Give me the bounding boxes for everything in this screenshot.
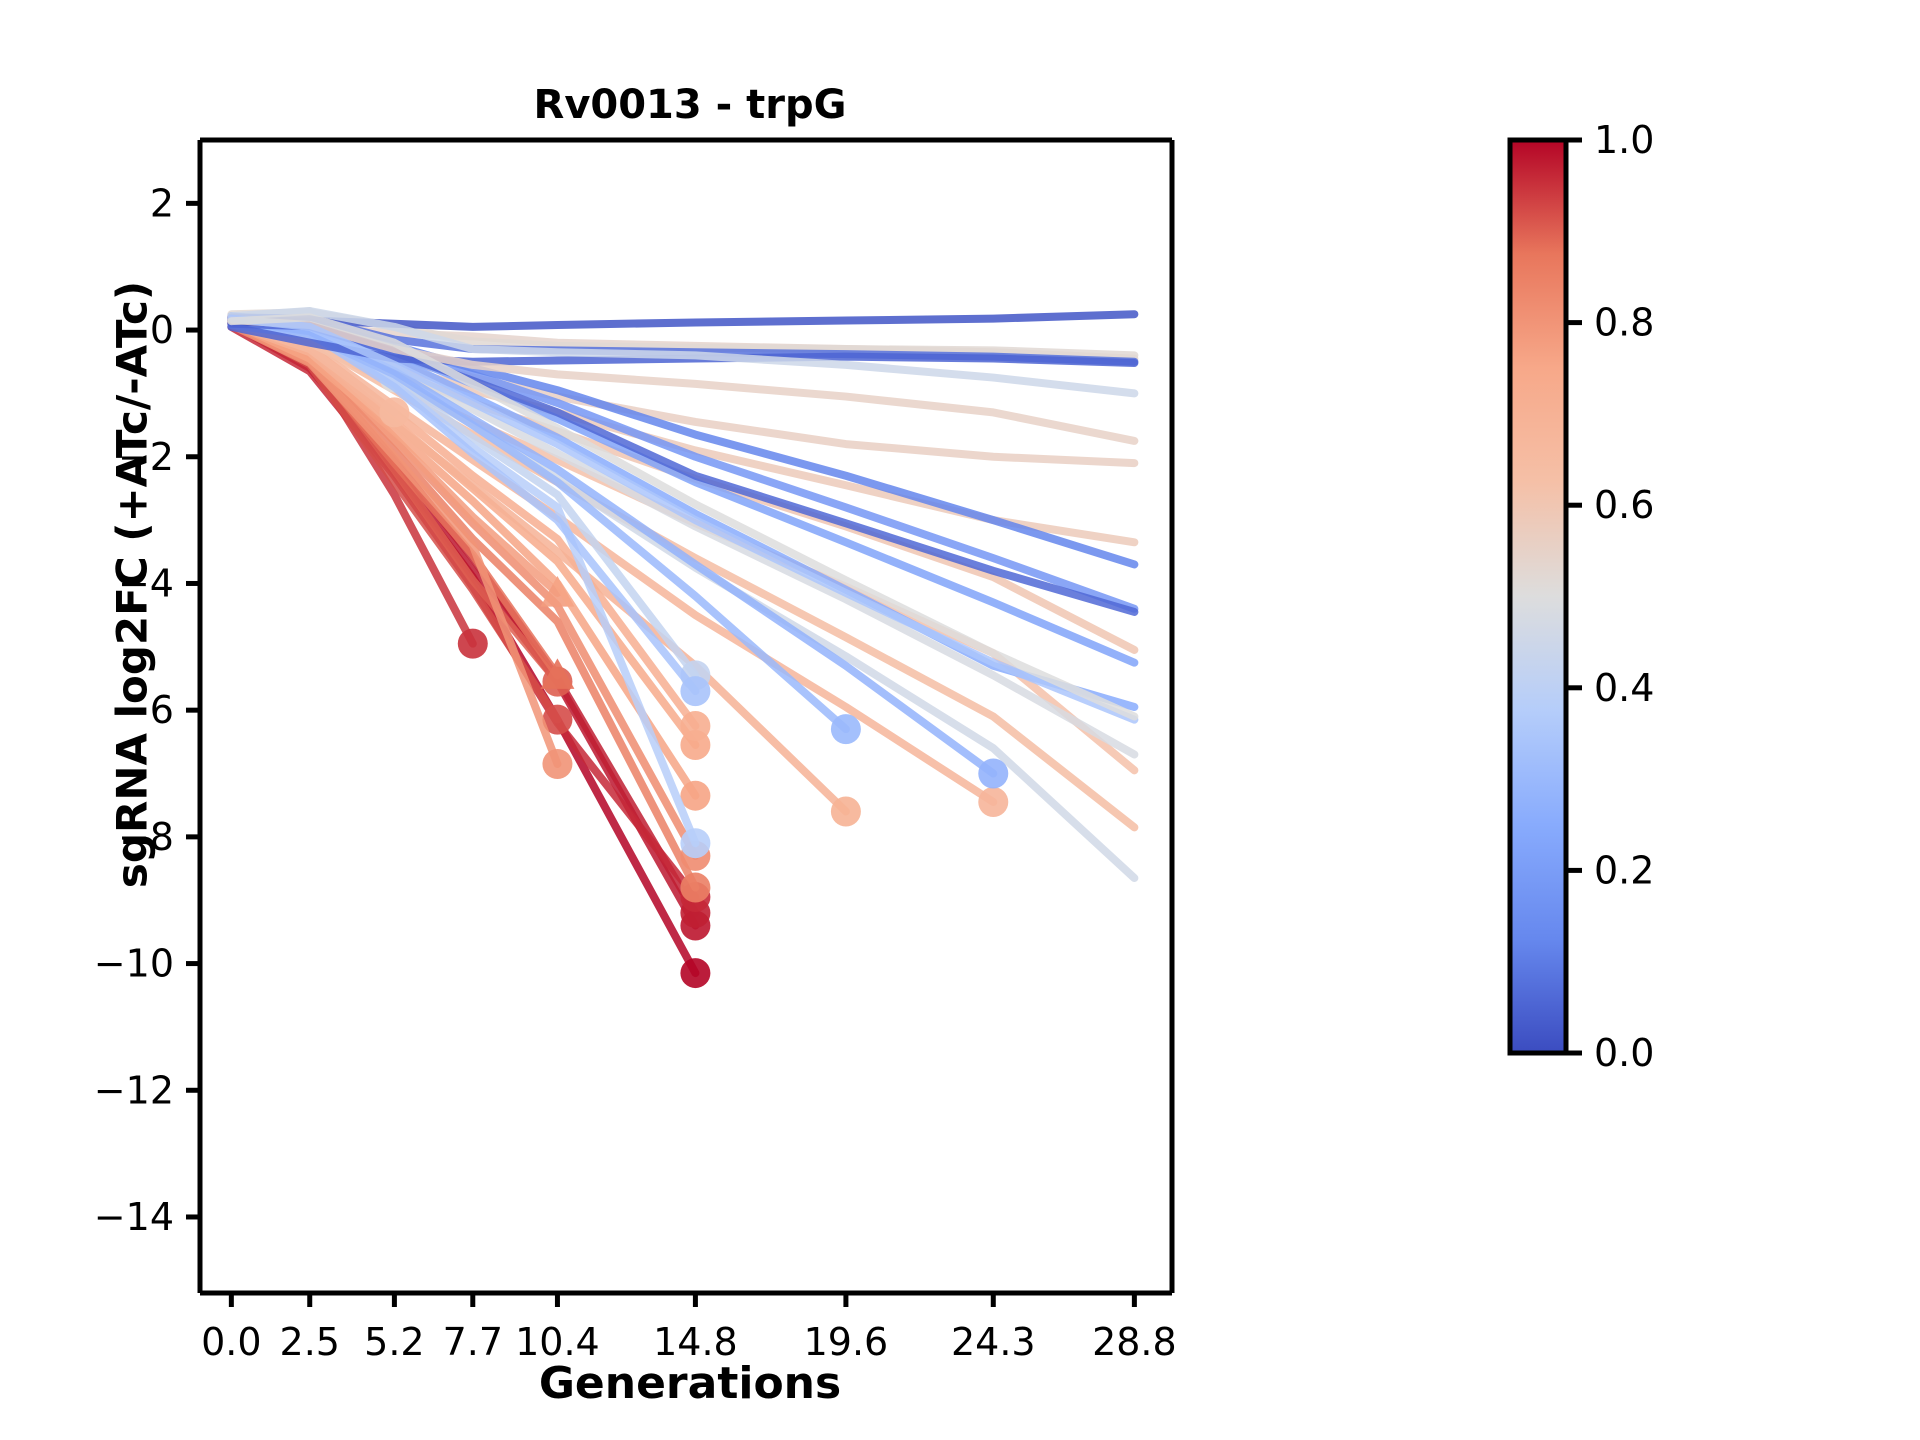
y-tick-label: −10	[94, 942, 174, 986]
series-endpoint-marker-circle	[542, 749, 572, 779]
series-endpoint-marker-circle	[680, 873, 710, 903]
y-axis-ticks: 20−2−4−6−8−10−12−14	[94, 181, 200, 1239]
colorbar-tick-label: 0.4	[1594, 666, 1654, 710]
series-endpoint-marker-circle	[680, 781, 710, 811]
series-endpoint-marker-circle	[831, 797, 861, 827]
colorbar-tick-label: 0.0	[1594, 1031, 1654, 1075]
colorbar-tick-label: 1.0	[1594, 118, 1654, 162]
y-tick-label: 2	[150, 181, 174, 225]
x-tick-label: 24.3	[951, 1320, 1036, 1364]
y-tick-label: −8	[118, 815, 174, 859]
colorbar-tick-label: 0.8	[1594, 301, 1654, 345]
y-tick-label: −2	[118, 435, 174, 479]
colorbar-ticks: 0.00.20.40.60.81.0	[1566, 118, 1654, 1075]
y-tick-label: 0	[150, 308, 174, 352]
x-tick-label: 10.4	[515, 1320, 600, 1364]
figure-canvas: Rv0013 - trpG sgRNA log2FC (+ATc/-ATc) G…	[0, 0, 1920, 1440]
x-tick-label: 5.2	[364, 1320, 424, 1364]
series-endpoint-marker-circle	[458, 629, 488, 659]
series-endpoint-marker-circle	[379, 397, 409, 427]
x-tick-label: 28.8	[1092, 1320, 1177, 1364]
line-chart-plot: 0.02.55.27.710.414.819.624.328.820−2−4−6…	[0, 0, 1920, 1440]
series-endpoint-marker-circle	[978, 787, 1008, 817]
series-endpoint-marker-circle	[831, 714, 861, 744]
y-tick-label: −4	[118, 561, 174, 605]
series-endpoint-marker-circle	[680, 828, 710, 858]
colorbar-tick-label: 0.6	[1594, 483, 1654, 527]
x-axis-ticks: 0.02.55.27.710.414.819.624.328.8	[201, 1293, 1177, 1364]
series-endpoint-marker-circle	[680, 711, 710, 741]
x-tick-label: 2.5	[280, 1320, 340, 1364]
colorbar-tick-label: 0.2	[1594, 848, 1654, 892]
x-tick-label: 14.8	[653, 1320, 738, 1364]
y-tick-label: −12	[94, 1068, 174, 1112]
colorbar-gradient	[1510, 140, 1566, 1053]
x-tick-label: 19.6	[804, 1320, 889, 1364]
x-tick-label: 7.7	[443, 1320, 503, 1364]
y-tick-label: −14	[94, 1195, 174, 1239]
series-endpoint-marker-circle	[680, 676, 710, 706]
series-endpoint-marker-circle	[978, 759, 1008, 789]
y-tick-label: −6	[118, 688, 174, 732]
x-tick-label: 0.0	[201, 1320, 261, 1364]
series-endpoint-marker-circle	[680, 958, 710, 988]
